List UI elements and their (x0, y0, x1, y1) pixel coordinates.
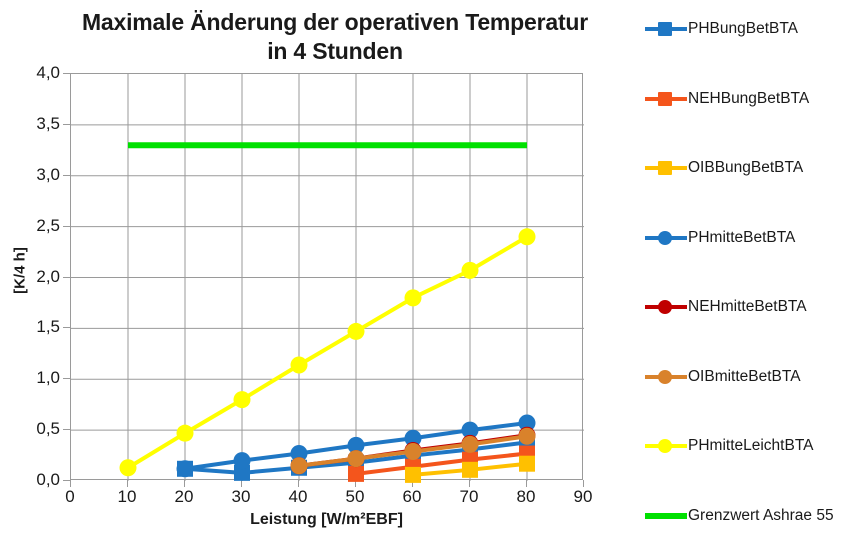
y-tick-label: 4,0 (12, 63, 60, 83)
legend-marker-square-icon (658, 22, 672, 36)
legend-swatch-icon (645, 297, 687, 317)
chart-title-line-2: in 4 Stunden (40, 37, 630, 66)
x-tick-label: 20 (162, 487, 206, 507)
legend-marker-circle-icon (658, 439, 672, 453)
x-tick-mark (184, 480, 185, 487)
data-point-marker (348, 323, 365, 340)
legend-swatch-icon (645, 506, 687, 526)
x-tick-mark (526, 480, 527, 487)
data-point-marker (462, 462, 478, 478)
legend-item-phmitteleichtbta[interactable]: PHmitteLeichtBTA (645, 435, 813, 457)
chart-title-line-1: Maximale Änderung der operativen Tempera… (82, 9, 588, 35)
legend-item-label: PHmitteLeichtBTA (687, 437, 813, 455)
x-tick-label: 50 (333, 487, 377, 507)
y-tick-mark (63, 175, 70, 176)
data-point-marker (291, 357, 308, 374)
legend-item-phmittebetbta[interactable]: PHmitteBetBTA (645, 227, 795, 249)
plot-area (70, 73, 583, 480)
x-tick-mark (127, 480, 128, 487)
legend-item-label: NEHmitteBetBTA (687, 298, 807, 316)
legend-swatch-icon (645, 19, 687, 39)
y-tick-mark (63, 226, 70, 227)
y-tick-mark (63, 480, 70, 481)
legend-marker-square-icon (658, 92, 672, 106)
y-tick-label: 0,5 (12, 419, 60, 439)
legend-item-grenzwert-ashrae-55[interactable]: Grenzwert Ashrae 55 (645, 505, 834, 527)
chart-legend: PHBungBetBTANEHBungBetBTAOIBBungBetBTAPH… (645, 0, 851, 541)
data-point-marker (519, 428, 536, 445)
legend-item-nehbungbetbta[interactable]: NEHBungBetBTA (645, 88, 809, 110)
y-tick-mark (63, 429, 70, 430)
legend-swatch-icon (645, 228, 687, 248)
legend-item-label: OIBBungBetBTA (687, 159, 803, 177)
x-tick-mark (70, 480, 71, 487)
data-point-marker (177, 425, 194, 442)
chart-root: Maximale Änderung der operativen Tempera… (0, 0, 851, 541)
y-tick-label: 2,0 (12, 267, 60, 287)
x-tick-label: 70 (447, 487, 491, 507)
legend-item-label: PHmitteBetBTA (687, 229, 795, 247)
legend-item-label: Grenzwert Ashrae 55 (687, 507, 834, 525)
x-tick-mark (241, 480, 242, 487)
data-series-layer (71, 74, 584, 481)
y-tick-label: 2,5 (12, 216, 60, 236)
x-tick-label: 0 (48, 487, 92, 507)
legend-line-icon (645, 513, 687, 519)
y-tick-mark (63, 73, 70, 74)
x-tick-label: 10 (105, 487, 149, 507)
x-tick-label: 90 (561, 487, 605, 507)
x-tick-mark (583, 480, 584, 487)
y-tick-mark (63, 277, 70, 278)
legend-item-nehmittebetbta[interactable]: NEHmitteBetBTA (645, 296, 807, 318)
y-tick-mark (63, 124, 70, 125)
data-point-marker (405, 467, 421, 483)
legend-marker-circle-icon (658, 231, 672, 245)
y-tick-label: 1,5 (12, 317, 60, 337)
legend-item-oibbungbetbta[interactable]: OIBBungBetBTA (645, 157, 803, 179)
x-tick-label: 60 (390, 487, 434, 507)
data-point-marker (462, 436, 479, 453)
legend-swatch-icon (645, 367, 687, 387)
data-point-marker (519, 456, 535, 472)
x-tick-label: 80 (504, 487, 548, 507)
x-tick-label: 40 (276, 487, 320, 507)
legend-swatch-icon (645, 158, 687, 178)
chart-title: Maximale Änderung der operativen Tempera… (40, 8, 630, 67)
data-point-marker (177, 460, 194, 477)
y-tick-label: 3,0 (12, 165, 60, 185)
data-point-marker (291, 457, 308, 474)
legend-marker-square-icon (658, 161, 672, 175)
y-tick-label: 3,5 (12, 114, 60, 134)
data-point-marker (348, 450, 365, 467)
data-point-marker (120, 459, 137, 476)
data-point-marker (405, 289, 422, 306)
x-tick-mark (469, 480, 470, 487)
x-tick-mark (298, 480, 299, 487)
data-point-marker (234, 391, 251, 408)
legend-item-oibmittebetbta[interactable]: OIBmitteBetBTA (645, 366, 801, 388)
y-tick-label: 1,0 (12, 368, 60, 388)
data-point-marker (348, 466, 364, 482)
legend-swatch-icon (645, 89, 687, 109)
legend-swatch-icon (645, 436, 687, 456)
data-point-marker (462, 262, 479, 279)
legend-item-label: OIBmitteBetBTA (687, 368, 801, 386)
legend-marker-circle-icon (658, 300, 672, 314)
data-point-marker (519, 228, 536, 245)
legend-item-phbungbetbta[interactable]: PHBungBetBTA (645, 18, 798, 40)
data-point-marker (405, 443, 422, 460)
y-tick-mark (63, 327, 70, 328)
y-tick-mark (63, 378, 70, 379)
legend-item-label: PHBungBetBTA (687, 20, 798, 38)
x-axis-title: Leistung [W/m²EBF] (70, 511, 583, 529)
x-tick-label: 30 (219, 487, 263, 507)
data-point-marker (234, 452, 251, 469)
legend-item-label: NEHBungBetBTA (687, 90, 809, 108)
legend-marker-circle-icon (658, 370, 672, 384)
